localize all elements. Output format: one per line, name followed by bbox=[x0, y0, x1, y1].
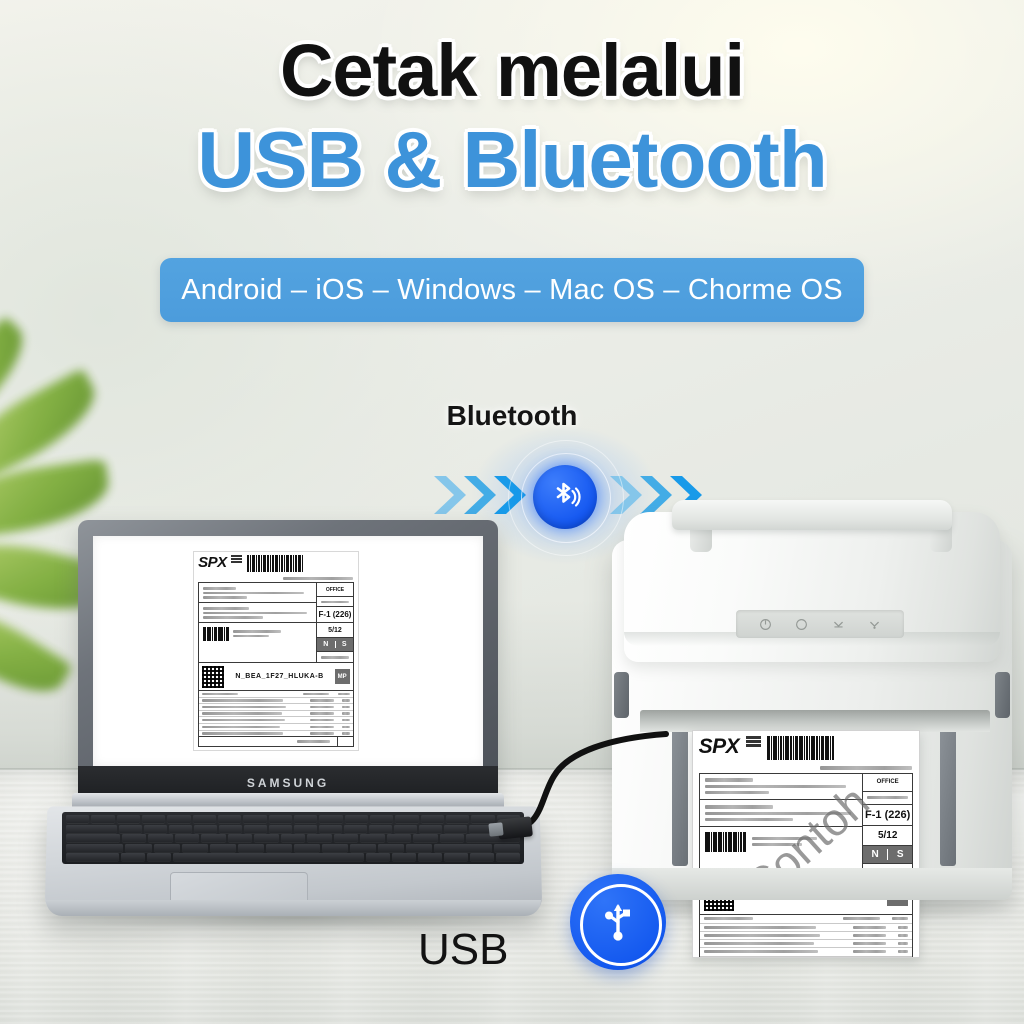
printed-label-address-block bbox=[699, 773, 862, 878]
printed-label-tracking-number bbox=[693, 766, 919, 770]
os-compatibility-text: Android – iOS – Windows – Mac OS – Chorm… bbox=[181, 274, 843, 307]
usb-label: USB bbox=[418, 925, 508, 975]
printed-label-sub-code: 5/12 bbox=[863, 826, 912, 846]
printed-label-flag-left: N bbox=[863, 849, 888, 860]
label-barcode bbox=[247, 555, 354, 572]
printer-latch-right bbox=[995, 672, 1010, 718]
status-indicator-icon bbox=[795, 618, 808, 631]
printer-control-panel bbox=[736, 610, 904, 638]
label-sub-code: 5/12 bbox=[317, 623, 353, 638]
laptop-brand: SAMSUNG bbox=[247, 776, 329, 790]
laptop-keyboard bbox=[62, 812, 524, 864]
label-flag-left: N bbox=[317, 641, 335, 648]
printed-label-logo: SPX bbox=[699, 736, 740, 757]
label-items-table bbox=[198, 691, 354, 737]
bluetooth-badge bbox=[533, 465, 597, 529]
bluetooth-icon bbox=[545, 477, 585, 517]
label-logo-sub bbox=[231, 555, 242, 564]
printed-label-logo-sub bbox=[746, 736, 761, 748]
printer-paper-guide-right bbox=[940, 716, 956, 866]
label-flags: N S bbox=[317, 638, 353, 652]
headline-line-2: USB & Bluetooth bbox=[0, 120, 1024, 200]
label-codes-block: OFFICE F-1 (226) 5/12 N S bbox=[316, 582, 354, 663]
screen-shipping-label: SPX bbox=[193, 551, 359, 751]
bluetooth-label: Bluetooth bbox=[0, 400, 1024, 432]
label-office-tag: OFFICE bbox=[317, 583, 353, 597]
label-route-code: F-1 (226) bbox=[317, 607, 353, 623]
label-tracking-number bbox=[194, 577, 358, 580]
label-address-block bbox=[198, 582, 316, 663]
usb-plug-connector bbox=[488, 822, 503, 836]
printed-label-barcode bbox=[767, 736, 913, 760]
power-icon bbox=[759, 618, 772, 631]
printed-shipping-label: SPX bbox=[692, 730, 920, 958]
printer-handle bbox=[672, 500, 952, 530]
printer-front-panel bbox=[612, 868, 1012, 900]
label-tracking-row: N_BEA_1F27_HLUKA-B MP bbox=[198, 663, 354, 691]
pause-icon bbox=[868, 618, 881, 631]
feed-icon bbox=[832, 618, 845, 631]
printed-label-office-tag: OFFICE bbox=[863, 774, 912, 792]
printed-label-route-code: F-1 (226) bbox=[863, 805, 912, 826]
printed-label-items-table bbox=[699, 915, 914, 958]
label-logo: SPX bbox=[198, 555, 227, 570]
headline-block: Cetak melalui USB & Bluetooth bbox=[0, 34, 1024, 200]
label-qr-code bbox=[202, 666, 224, 688]
label-footer bbox=[198, 737, 354, 747]
laptop-front-edge bbox=[46, 900, 541, 916]
label-flag-right: S bbox=[336, 641, 353, 648]
label-tracking-code: N_BEA_1F27_HLUKA-B bbox=[224, 673, 334, 680]
promo-image: Cetak melalui USB & Bluetooth Android – … bbox=[0, 0, 1024, 1024]
printed-label-flag-right: S bbox=[888, 849, 912, 860]
headline-line-1: Cetak melalui bbox=[0, 34, 1024, 108]
label-service-badge: MP bbox=[335, 669, 350, 684]
usb-badge bbox=[570, 874, 666, 970]
printed-label-codes-block: OFFICE F-1 (226) 5/12 N S bbox=[862, 773, 913, 878]
printed-label-flags: N S bbox=[863, 846, 912, 864]
usb-icon bbox=[592, 896, 644, 948]
os-compatibility-banner: Android – iOS – Windows – Mac OS – Chorm… bbox=[160, 258, 864, 322]
